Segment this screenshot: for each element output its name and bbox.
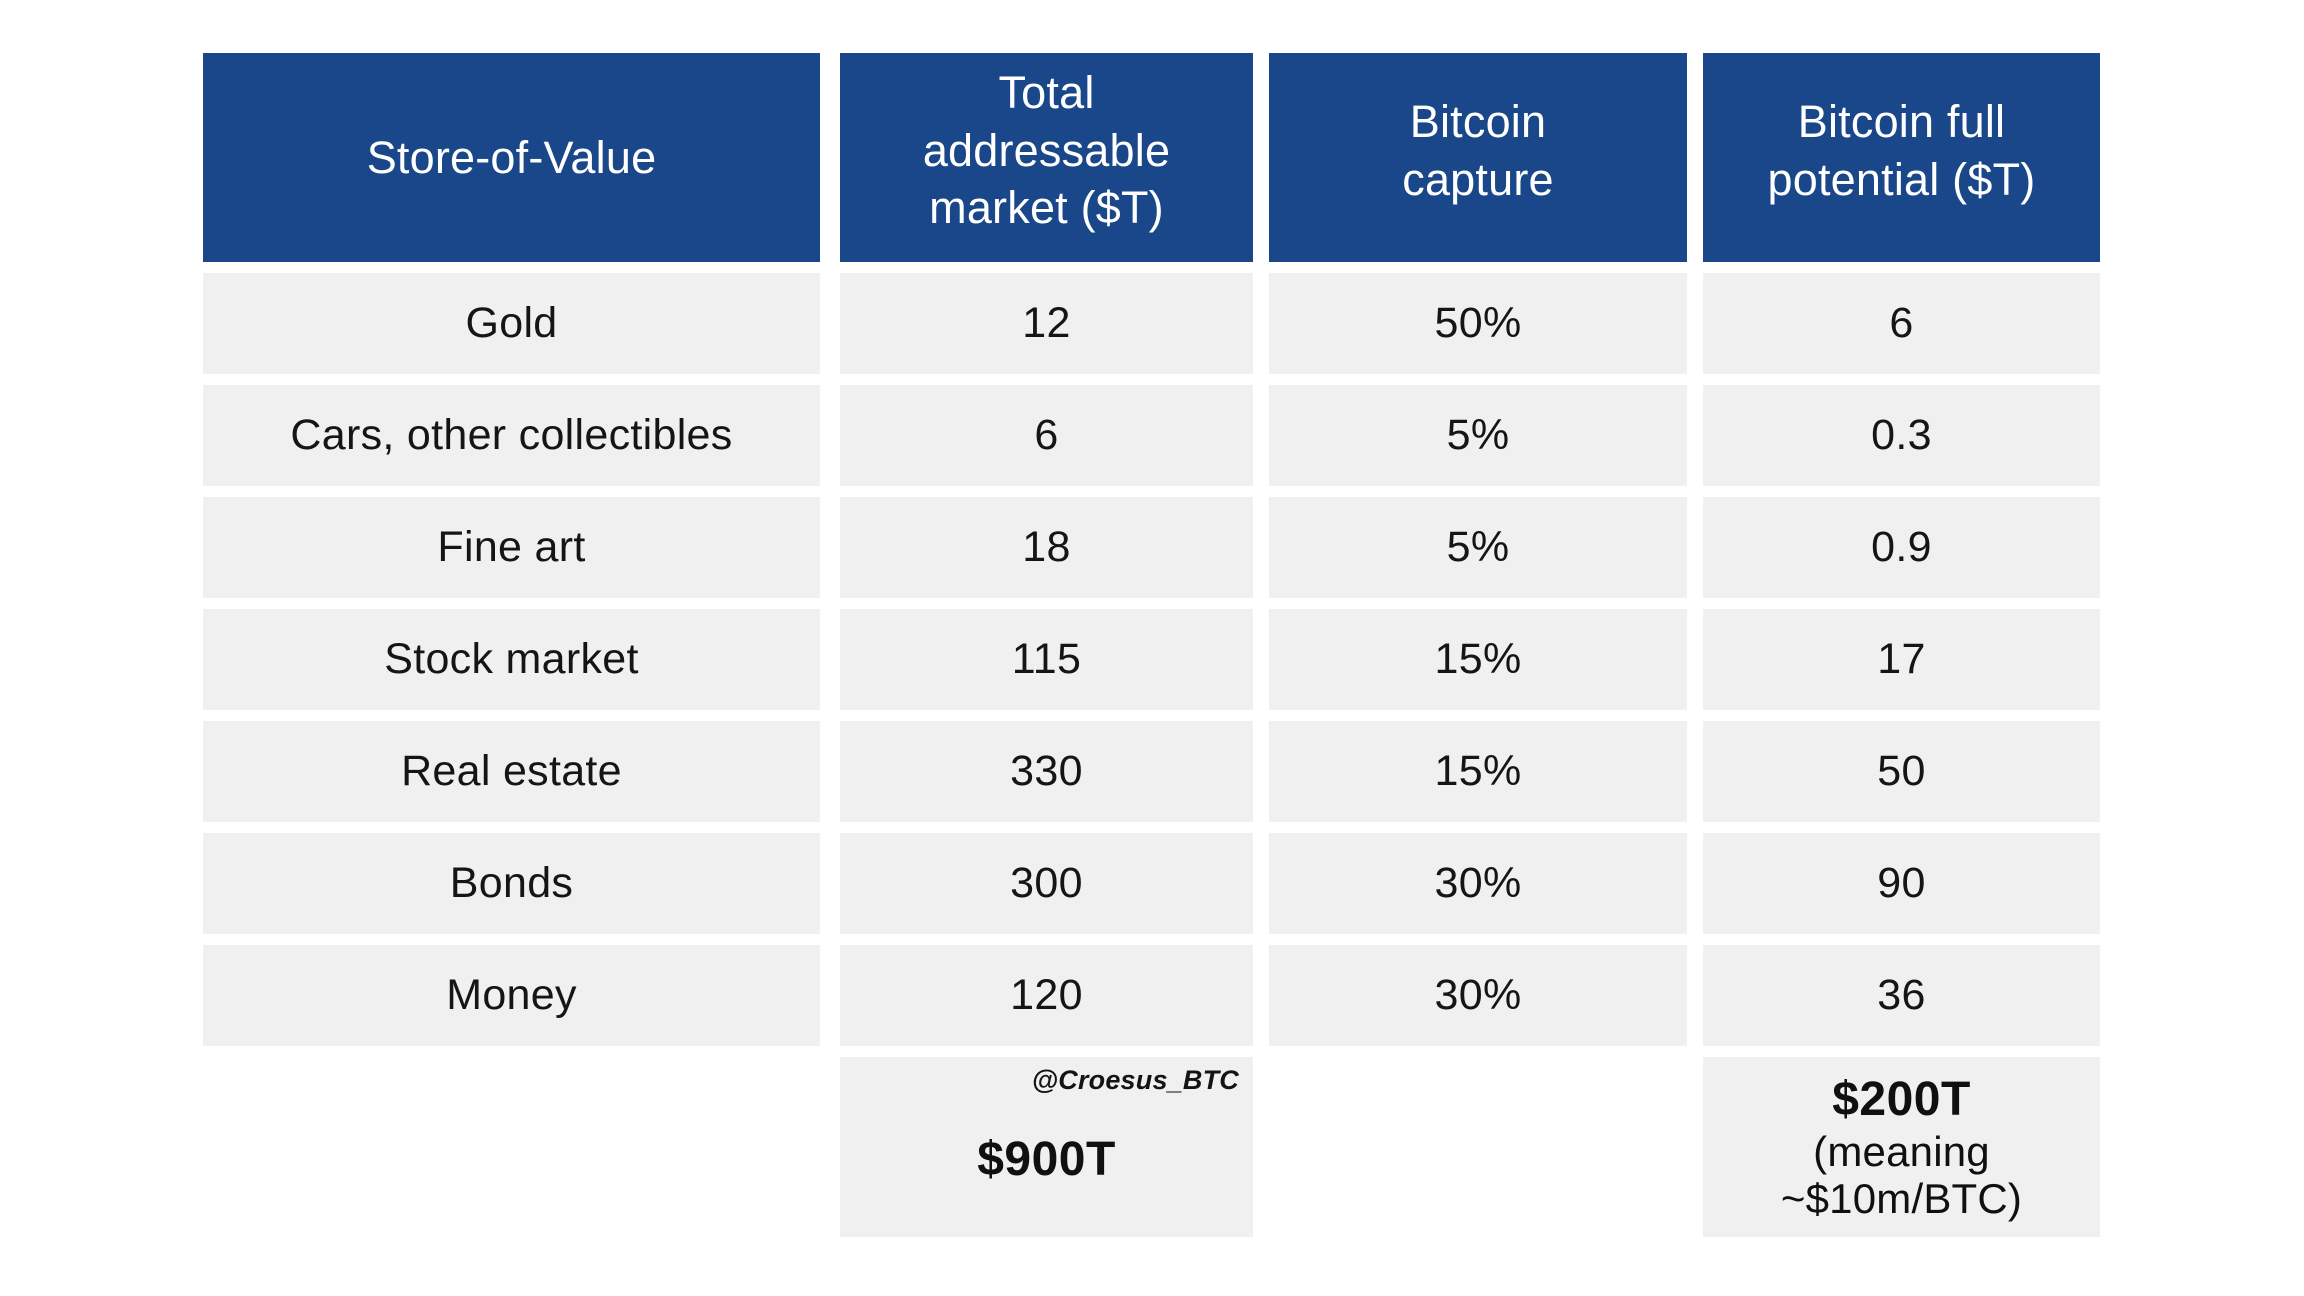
- cell-total-addressable-market: 330: [840, 721, 1253, 822]
- watermark-handle: @Croesus_BTC: [1032, 1065, 1239, 1096]
- cell-store-of-value: Gold: [203, 273, 820, 374]
- cell-store-of-value: Cars, other collectibles: [203, 385, 820, 486]
- cell-bitcoin-full-potential: 6: [1703, 273, 2100, 374]
- table-row: Stock market 115 15% 17: [203, 609, 2100, 710]
- cell-bitcoin-full-potential: 0.9: [1703, 497, 2100, 598]
- cell-bitcoin-capture: 15%: [1269, 721, 1687, 822]
- column-header-total-addressable-market: Total addressable market ($T): [840, 53, 1253, 262]
- footer-cell-bitcoin-capture: [1269, 1057, 1687, 1237]
- cell-bitcoin-full-potential: 0.3: [1703, 385, 2100, 486]
- cell-store-of-value: Real estate: [203, 721, 820, 822]
- table-header-row: Store-of-Value Total addressable market …: [203, 53, 2100, 262]
- table-row: Bonds 300 30% 90: [203, 833, 2100, 934]
- cell-total-addressable-market: 6: [840, 385, 1253, 486]
- header-line: Store-of-Value: [367, 129, 657, 187]
- footer-cell-total-addressable-market: @Croesus_BTC $900T: [840, 1057, 1253, 1237]
- table-row: Gold 12 50% 6: [203, 273, 2100, 374]
- cell-bitcoin-capture: 50%: [1269, 273, 1687, 374]
- table-row: Cars, other collectibles 6 5% 0.3: [203, 385, 2100, 486]
- footer-cell-bitcoin-full-potential: $200T (meaning ~$10m/BTC): [1703, 1057, 2100, 1237]
- header-line: Total: [923, 64, 1170, 122]
- cell-bitcoin-capture: 30%: [1269, 945, 1687, 1046]
- store-of-value-table: Store-of-Value Total addressable market …: [203, 53, 2100, 1237]
- cell-total-addressable-market: 120: [840, 945, 1253, 1046]
- cell-bitcoin-capture: 15%: [1269, 609, 1687, 710]
- cell-bitcoin-capture: 30%: [1269, 833, 1687, 934]
- cell-bitcoin-full-potential: 90: [1703, 833, 2100, 934]
- cell-bitcoin-full-potential: 50: [1703, 721, 2100, 822]
- cell-total-addressable-market: 18: [840, 497, 1253, 598]
- header-line: potential ($T): [1768, 151, 2036, 209]
- table-row: Money 120 30% 36: [203, 945, 2100, 1046]
- cell-total-addressable-market: 300: [840, 833, 1253, 934]
- column-header-bitcoin-capture: Bitcoin capture: [1269, 53, 1687, 262]
- column-header-store-of-value: Store-of-Value: [203, 53, 820, 262]
- footer-note-line2: ~$10m/BTC): [1781, 1175, 2022, 1222]
- cell-store-of-value: Stock market: [203, 609, 820, 710]
- column-header-bitcoin-full-potential: Bitcoin full potential ($T): [1703, 53, 2100, 262]
- header-line: market ($T): [923, 179, 1170, 237]
- cell-store-of-value: Money: [203, 945, 820, 1046]
- header-line: Bitcoin full: [1768, 93, 2036, 151]
- cell-bitcoin-capture: 5%: [1269, 385, 1687, 486]
- cell-bitcoin-full-potential: 36: [1703, 945, 2100, 1046]
- footer-total-potential: $200T: [1832, 1072, 1971, 1127]
- footer-note-line1: (meaning: [1813, 1128, 1990, 1175]
- table-row: Real estate 330 15% 50: [203, 721, 2100, 822]
- cell-store-of-value: Fine art: [203, 497, 820, 598]
- table-row: Fine art 18 5% 0.9: [203, 497, 2100, 598]
- header-line: addressable: [923, 122, 1170, 180]
- cell-store-of-value: Bonds: [203, 833, 820, 934]
- header-line: capture: [1402, 151, 1554, 209]
- cell-bitcoin-full-potential: 17: [1703, 609, 2100, 710]
- cell-total-addressable-market: 12: [840, 273, 1253, 374]
- footer-total-tam: $900T: [977, 1106, 1116, 1187]
- cell-bitcoin-capture: 5%: [1269, 497, 1687, 598]
- cell-total-addressable-market: 115: [840, 609, 1253, 710]
- footer-cell-empty: [203, 1057, 820, 1237]
- table-footer-row: @Croesus_BTC $900T $200T (meaning ~$10m/…: [203, 1057, 2100, 1237]
- header-line: Bitcoin: [1402, 93, 1554, 151]
